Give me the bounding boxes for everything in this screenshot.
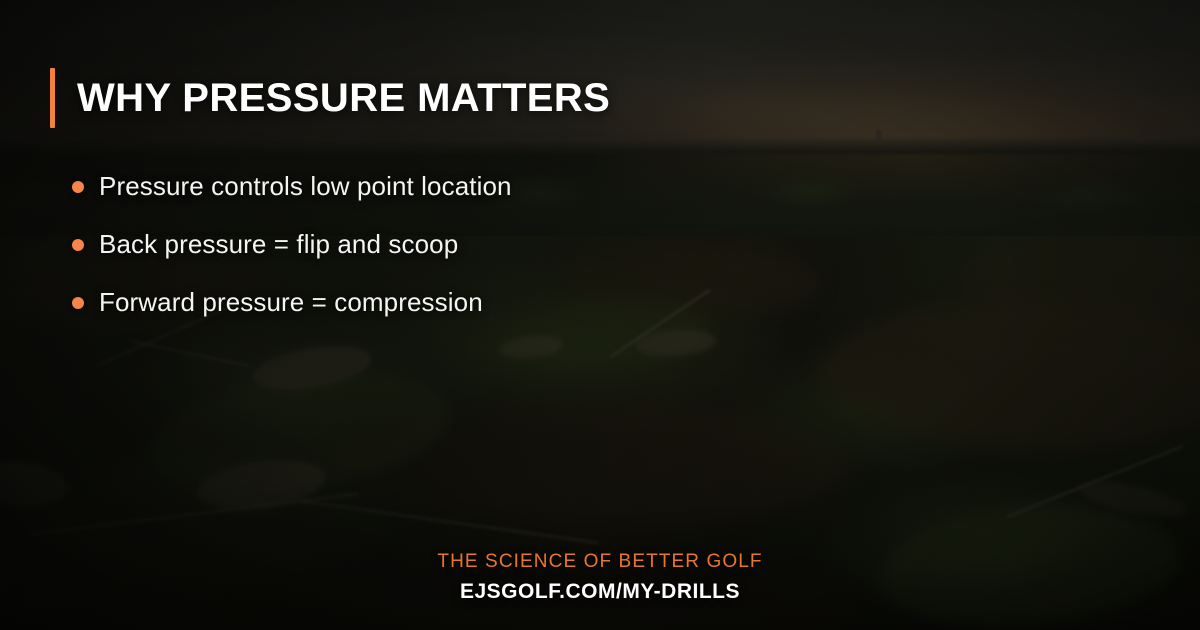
bullet-dot-icon xyxy=(72,297,84,309)
footer-tagline: THE SCIENCE OF BETTER GOLF xyxy=(437,551,762,573)
bullet-dot-icon xyxy=(72,181,84,193)
list-item: Pressure controls low point location xyxy=(72,172,512,202)
page-title: WHY PRESSURE MATTERS xyxy=(77,78,610,118)
title-row: WHY PRESSURE MATTERS xyxy=(50,68,610,128)
slide-canvas: WHY PRESSURE MATTERS Pressure controls l… xyxy=(0,0,1200,630)
slide-content: WHY PRESSURE MATTERS Pressure controls l… xyxy=(0,0,1200,630)
bullet-dot-icon xyxy=(72,239,84,251)
accent-bar xyxy=(50,68,55,128)
list-item-label: Back pressure = flip and scoop xyxy=(99,230,458,260)
list-item: Forward pressure = compression xyxy=(72,288,512,318)
footer: THE SCIENCE OF BETTER GOLF EJSGOLF.COM/M… xyxy=(0,551,1200,604)
bullet-list: Pressure controls low point location Bac… xyxy=(72,172,512,318)
list-item-label: Forward pressure = compression xyxy=(99,288,483,318)
list-item-label: Pressure controls low point location xyxy=(99,172,512,202)
footer-url: EJSGOLF.COM/MY-DRILLS xyxy=(460,580,740,604)
list-item: Back pressure = flip and scoop xyxy=(72,230,512,260)
